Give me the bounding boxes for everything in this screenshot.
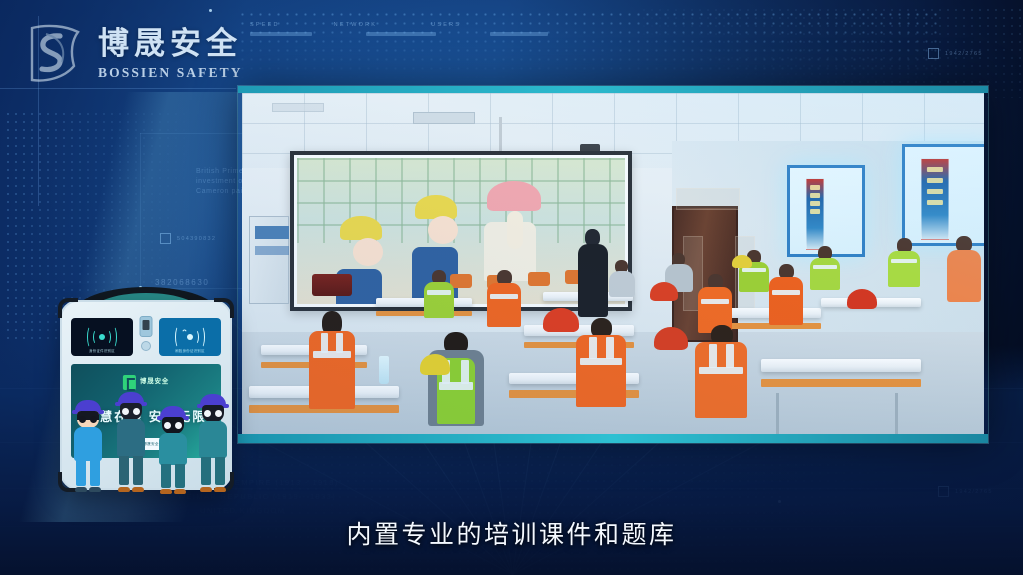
attendee-body-grey (609, 271, 635, 297)
hi-vis-vest-orange (487, 283, 521, 327)
video-subtitle: 内置专业的培训课件和题库 (0, 515, 1023, 551)
vest-reflective-strip (336, 333, 343, 353)
attendee-back-4 (947, 236, 981, 318)
hud-bar-network (366, 32, 436, 36)
worker-legs (76, 460, 100, 492)
hud-label-users: USERS (431, 22, 461, 28)
attendee-back-2 (810, 246, 840, 304)
worker-legs (201, 457, 225, 492)
vest-reflective-strip (606, 337, 614, 359)
attendee-back-6 (609, 260, 635, 308)
scanner-right[interactable]: 刷脸身份证识别区 (159, 318, 221, 356)
vest-reflective-strip (490, 294, 518, 299)
rfid-arc (87, 326, 94, 348)
marker-mid-left: 504390832 (160, 233, 216, 244)
photo-frame-bottom-bar (238, 434, 988, 443)
worker-eye (79, 416, 86, 423)
vest-reflective-strip (772, 290, 800, 295)
hud-bar-users (490, 32, 548, 36)
rfid-wave-icon (170, 328, 210, 346)
worker-shoe (118, 487, 130, 492)
bg-code-number-1: 382068630 (155, 278, 209, 287)
kiosk-worker-4 (192, 394, 234, 492)
hud-bar-speed (250, 32, 312, 36)
slide-face-1 (353, 238, 383, 266)
attendee-front-mid (576, 318, 626, 420)
scanner-left-label: 身份证件识别区 (71, 348, 133, 353)
photo-frame-top-bar (238, 86, 988, 93)
worker-eye (204, 410, 211, 417)
hud-dot-band (238, 10, 938, 80)
worker-eye (90, 416, 97, 423)
worker-leg (201, 457, 211, 485)
marker-top-right: 1942/2765 (928, 48, 983, 59)
hud-label-speed: SPEED (250, 22, 280, 28)
window-center (787, 165, 865, 257)
brand-name-cn: 博晟安全 (98, 28, 243, 61)
worker-leg (175, 464, 185, 488)
vest-reflective-strip (813, 265, 837, 269)
worker-face (77, 411, 99, 428)
instructor-body (578, 244, 608, 317)
worker-face (120, 403, 142, 420)
worker-shoe (174, 489, 186, 494)
lectern (312, 274, 352, 296)
worker-torso (117, 419, 145, 457)
attendee-mid-2 (487, 270, 521, 345)
marker-code-top: 1942/2765 (945, 51, 983, 57)
worker-shoe (75, 487, 87, 492)
status-indicator-icon (141, 341, 151, 351)
vest-reflective-strip (701, 299, 729, 304)
attendee-back-3 (888, 238, 920, 303)
instructor (576, 229, 610, 324)
desk-leg (776, 393, 779, 434)
attendee-front-left (309, 311, 355, 427)
bossien-s-monogram-icon (26, 22, 84, 86)
vest-reflective-strip (321, 333, 328, 353)
yellow-helmet-back (732, 255, 752, 268)
hairline-horizontal-logo (0, 88, 236, 89)
slide-helmet-yellow-2 (415, 195, 457, 219)
worker-leg (161, 464, 171, 488)
worker-legs (119, 456, 143, 492)
vest-reflective-strip (580, 358, 622, 365)
vest-reflective-strip (313, 351, 351, 358)
bossien-leaf-icon (123, 375, 136, 390)
cabinet-files (255, 226, 289, 239)
vest-reflective-strip (726, 344, 734, 368)
worker-shoe (160, 489, 172, 494)
brand-logo: 博晟安全 BOSSIEN SAFETY (26, 22, 243, 86)
worker-eye (164, 422, 171, 429)
kiosk-worker-2 (110, 392, 152, 492)
worker-torso (74, 427, 102, 461)
attendee-mid-4 (769, 264, 803, 346)
training-photo-panel (238, 86, 988, 443)
hi-vis-vest-orange (769, 277, 803, 325)
cabinet-files-2 (255, 246, 289, 255)
kiosk-brand-lockup: 博晟安全 (123, 375, 169, 390)
marker-square-icon (160, 233, 171, 244)
kiosk-corner-tr (214, 298, 234, 318)
kiosk-corner-tl (58, 298, 78, 318)
hud-label-network: NETWORK (334, 22, 378, 28)
rfid-arc (175, 326, 182, 348)
worker-face (202, 405, 224, 422)
slide-arm (507, 211, 523, 249)
worker-eye (215, 410, 222, 417)
scanner-left[interactable]: 身份证件识别区 (71, 318, 133, 356)
rfid-arc (181, 330, 188, 345)
worker-leg (76, 460, 86, 486)
vest-reflective-strip (891, 259, 917, 263)
red-helmet-on-desk-1 (543, 308, 579, 332)
camera-icon (140, 316, 153, 337)
red-helmet-on-desk-3 (847, 289, 877, 309)
training-kiosk-illustration: 身份证件识别区 刷脸身份证识别区 博晟安全 智慧在线 安培无限 博晟安全 (60, 300, 232, 490)
hi-vis-vest-orange (309, 331, 355, 409)
vest-reflective-strip (699, 367, 743, 374)
vest-reflective-strip (427, 290, 451, 295)
desk-front-right (761, 359, 921, 372)
kiosk-worker-3 (153, 406, 193, 492)
door-glass (676, 188, 740, 210)
worker-leg (119, 456, 129, 485)
rfid-arc (110, 326, 117, 348)
chair-empty-c (528, 272, 550, 286)
hi-vis-vest-orange (695, 342, 747, 418)
worker-shoe (89, 487, 101, 492)
worker-leg (90, 460, 100, 486)
red-helmet-on-desk-2 (650, 282, 678, 301)
rfid-arc (198, 326, 205, 348)
vest-reflective-strip (709, 344, 717, 368)
hi-vis-vest-green (888, 251, 920, 287)
hud-label-row: SPEED NETWORK USERS (250, 22, 670, 28)
marker-square-icon (928, 48, 939, 59)
worker-shoe (132, 487, 144, 492)
projector-rod (499, 117, 502, 155)
safety-poster-right (921, 158, 949, 240)
worker-torso (159, 433, 187, 465)
water-bottle (379, 356, 389, 384)
desk-leg (895, 393, 898, 434)
brand-logo-text: 博晟安全 BOSSIEN SAFETY (98, 22, 243, 81)
worker-leg (133, 456, 143, 485)
hi-vis-vest-orange (576, 335, 626, 407)
kiosk-brand-cn: 博晟安全 (140, 378, 169, 386)
worker-legs (161, 464, 185, 494)
attendee-front-center (428, 332, 484, 434)
vest-reflective-strip (461, 360, 469, 384)
scanner-right-label: 刷脸身份证识别区 (159, 348, 221, 353)
attendee-mid-1 (424, 270, 454, 335)
training-classroom-photo (242, 93, 984, 434)
hairline-box-left (140, 133, 141, 288)
attendee-body-orange (947, 250, 981, 302)
marker-code-mid: 504390832 (177, 236, 216, 242)
kiosk-worker-1 (68, 400, 108, 492)
rfid-wave-icon (82, 328, 122, 346)
worker-shoe (200, 487, 212, 492)
worker-eye (122, 408, 129, 415)
worker-shoe (214, 487, 226, 492)
worker-face (162, 417, 184, 434)
rfid-arc (93, 330, 100, 345)
brand-name-en: BOSSIEN SAFETY (98, 65, 243, 81)
attendee-front-right (695, 325, 747, 434)
vest-reflective-strip (742, 268, 766, 272)
desk-skirt (761, 379, 921, 387)
worker-leg (215, 457, 225, 485)
worker-eye (175, 422, 182, 429)
vest-reflective-strip (589, 337, 597, 359)
hi-vis-vest-green (424, 282, 454, 318)
slide-helmet-pink (487, 181, 541, 211)
ceiling-vent-a (413, 112, 475, 124)
classroom-scene (242, 93, 984, 434)
worker-torso (199, 421, 227, 458)
hi-vis-vest-green (810, 258, 840, 290)
safety-poster-center (806, 178, 824, 250)
hud-bar-row (250, 32, 670, 36)
worker-eye (133, 408, 140, 415)
slide-helmet-yellow-1 (340, 216, 382, 240)
video-frame: SPEED NETWORK USERS British Prime Minist… (0, 0, 1023, 575)
node-dot-b (209, 9, 212, 12)
ceiling-vent-b (272, 103, 324, 112)
